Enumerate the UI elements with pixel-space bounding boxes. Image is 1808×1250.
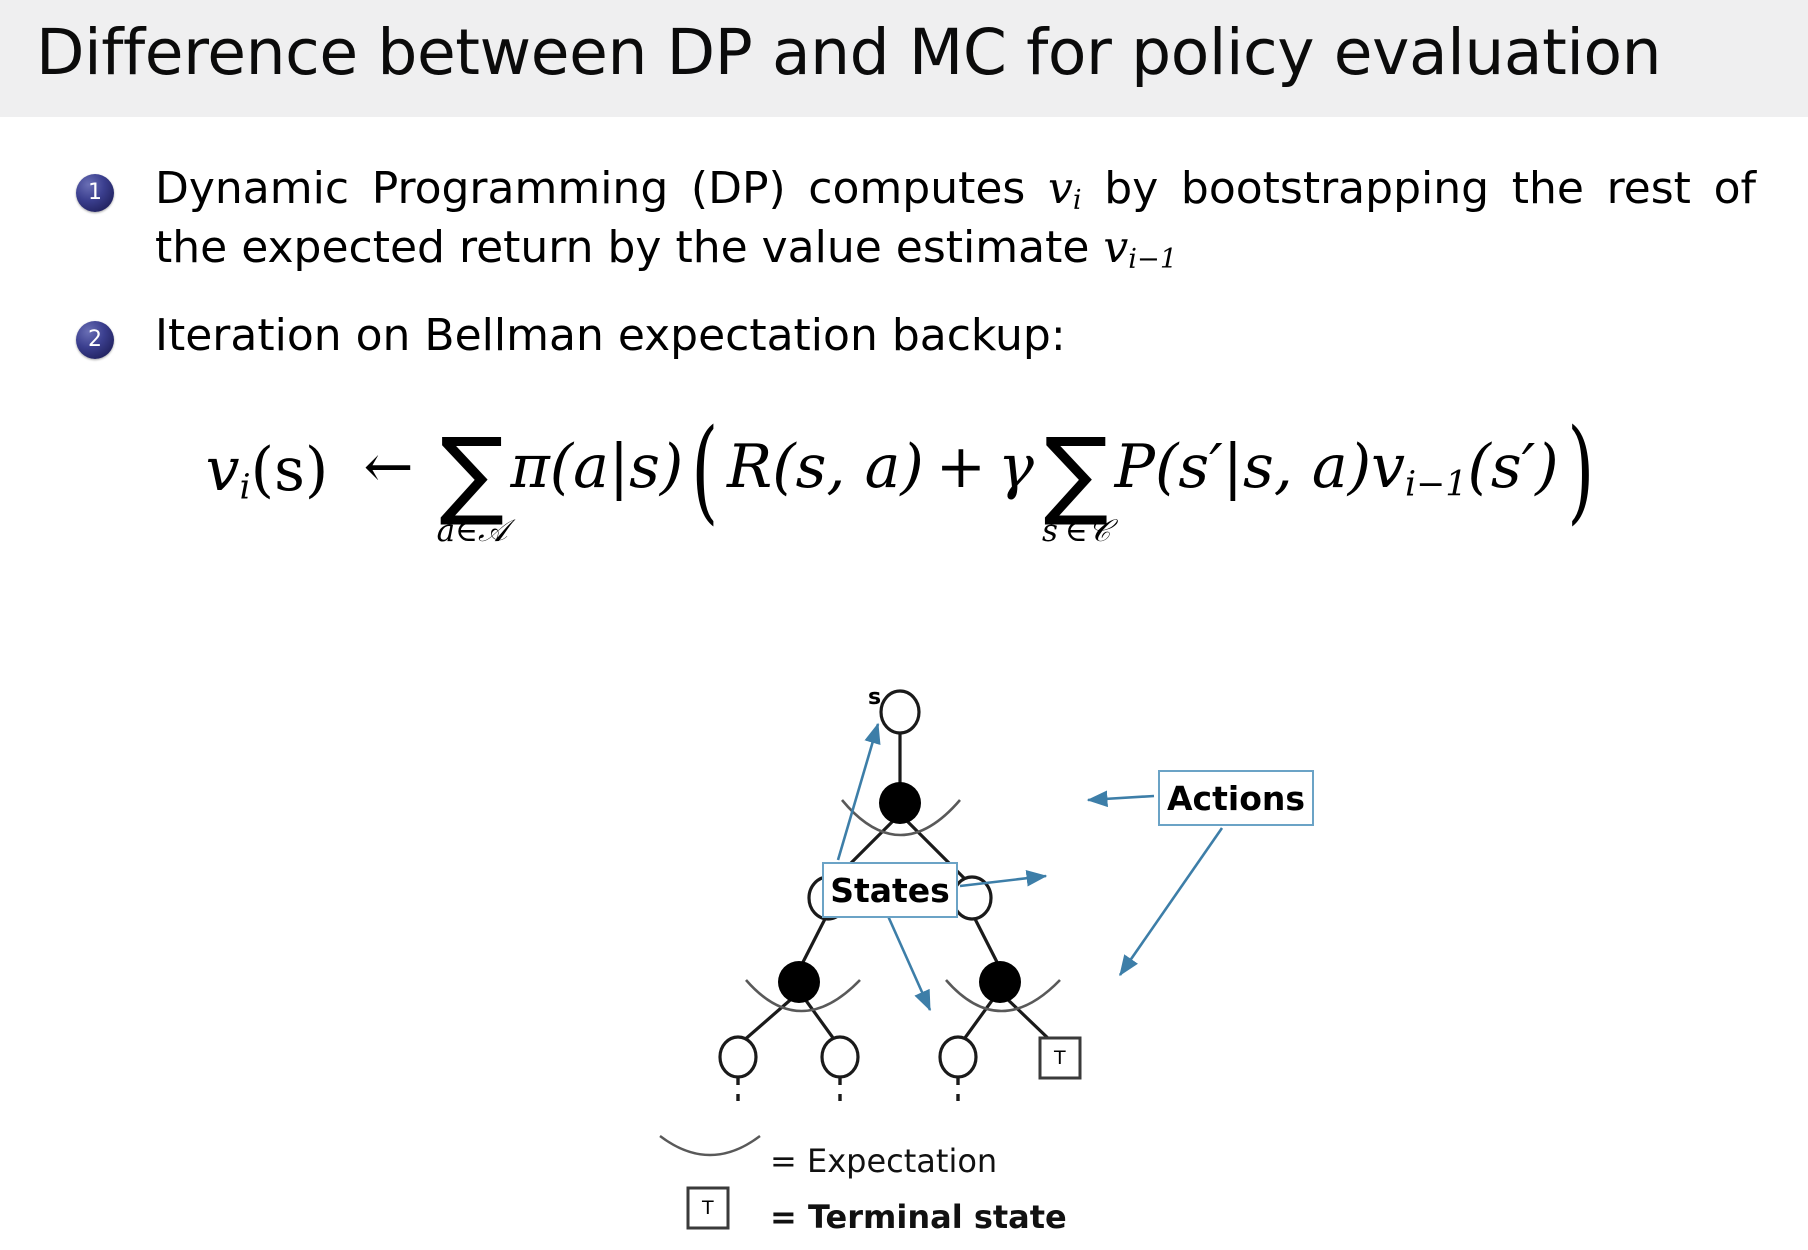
plus-sign: +	[936, 432, 986, 502]
sum-1-set: 𝒜	[478, 513, 507, 549]
page-title: Difference between DP and MC for policy …	[36, 21, 1661, 84]
edge-state-left-to-action	[800, 913, 828, 968]
sum-2-set: 𝒞	[1088, 513, 1111, 549]
bullet-number-1: 1	[76, 174, 114, 212]
sum-2-var: s′	[1042, 513, 1065, 549]
sum-1-var: a	[437, 513, 455, 549]
vi-subscript: i	[1073, 185, 1082, 216]
action-node-level2-left	[778, 961, 820, 1003]
terminal-node-label: T	[1053, 1047, 1066, 1069]
root-state-label: s	[868, 685, 881, 710]
edge-state-right-to-action	[972, 913, 1000, 968]
vi-base: v	[1048, 163, 1073, 214]
legend-terminal-label: = Terminal state	[770, 1198, 1067, 1236]
open-paren-big: (	[692, 443, 719, 499]
sum-2-in: ∈	[1065, 513, 1088, 549]
equation-lhs: vi(s)	[206, 435, 329, 508]
list-item: 1 Dynamic Programming (DP) computes vi b…	[0, 160, 1808, 279]
legend-expectation-arc-icon	[660, 1136, 760, 1155]
sum-1-in: ∈	[455, 513, 478, 549]
annotation-label-states: States	[822, 862, 958, 918]
state-node-leaf-2	[822, 1037, 858, 1077]
edge-a2-to-leaf-left	[962, 995, 996, 1042]
sum-2-limit: s′∈𝒞	[1042, 519, 1111, 544]
list-item: 2 Iteration on Bellman expectation backu…	[0, 307, 1808, 366]
state-node-leaf-1	[720, 1037, 756, 1077]
lhs-argument: (s)	[251, 435, 329, 505]
reward-term: R(s, a)	[727, 432, 924, 502]
title-band: Difference between DP and MC for policy …	[0, 0, 1808, 117]
bullet-1-math-vi: vi	[1048, 163, 1082, 214]
value-subscript: i−1	[1405, 465, 1467, 505]
lhs-subscript: i	[240, 468, 251, 508]
transition-term: P(s′|s, a)	[1115, 432, 1372, 502]
bullet-text-2: Iteration on Bellman expectation backup:	[155, 307, 1756, 366]
legend-expectation-label: = Expectation	[770, 1142, 997, 1180]
sum-1-limit: a∈𝒜	[437, 519, 508, 544]
vim1-subscript: i−1	[1128, 244, 1177, 275]
bullet-list: 1 Dynamic Programming (DP) computes vi b…	[0, 160, 1808, 365]
summation-over-states: ∑s′∈𝒞	[1044, 435, 1109, 512]
vim1-base: v	[1103, 222, 1128, 273]
close-paren-big: )	[1567, 443, 1594, 499]
lhs-v: v	[206, 435, 240, 505]
annotation-label-actions: Actions	[1158, 770, 1314, 826]
assignment-arrow: ←	[363, 432, 413, 502]
bullet-number-2: 2	[76, 321, 114, 359]
continuation-dashes	[738, 1078, 958, 1106]
state-node-level2-right	[953, 877, 991, 919]
gamma-symbol: γ	[998, 432, 1034, 502]
edge-a2-to-terminal	[1003, 995, 1052, 1042]
value-argument: (s′)	[1467, 432, 1558, 502]
state-node-leaf-3	[940, 1037, 976, 1077]
state-node-root	[881, 691, 919, 733]
value-v: v	[1371, 432, 1405, 502]
action-node-level2-right	[979, 961, 1021, 1003]
policy-term: π(a|s)	[510, 432, 683, 502]
bullet-1-math-vi-minus-1: vi−1	[1103, 222, 1177, 273]
bullet-1-text-part-1: Dynamic Programming (DP) computes	[155, 163, 1048, 214]
bullet-text-1: Dynamic Programming (DP) computes vi by …	[155, 160, 1756, 279]
bellman-expectation-equation: vi(s) ←∑a∈𝒜π(a|s)(R(s, a)+γ∑s′∈𝒞P(s′|s, …	[0, 432, 1808, 510]
action-node-root	[879, 782, 921, 824]
summation-over-actions: ∑a∈𝒜	[440, 435, 505, 512]
legend-terminal-icon-label: T	[701, 1197, 714, 1219]
